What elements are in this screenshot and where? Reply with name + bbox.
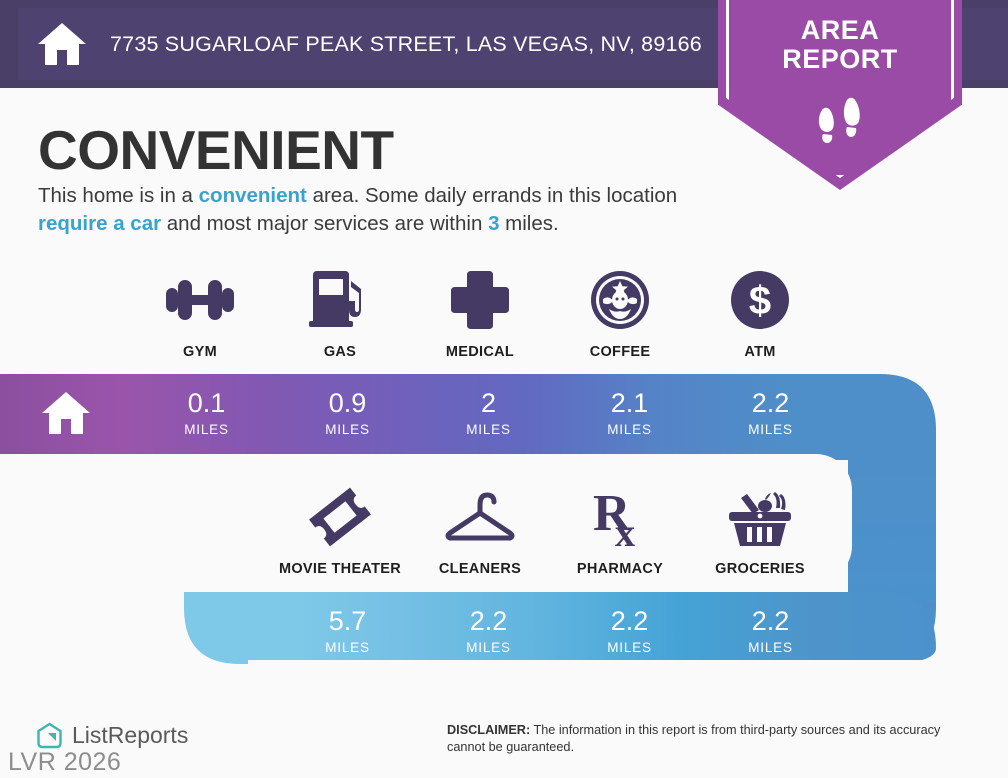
- distance-cell-pharmacy: 2.2 MILES: [559, 588, 700, 674]
- distance-cell-medical: 2 MILES: [418, 370, 559, 456]
- distance-unit: MILES: [184, 422, 229, 437]
- amenity-label: PHARMACY: [577, 561, 663, 577]
- distance-cell-atm: 2.2 MILES: [700, 370, 841, 456]
- distance-value: 2.2: [611, 608, 649, 635]
- distance-unit: MILES: [748, 640, 793, 655]
- disclaimer: DISCLAIMER: The information in this repo…: [447, 722, 977, 756]
- distance-value: 2.2: [752, 390, 790, 417]
- amenity-row-2: MOVIE THEATER CLEANERS R x PHARMACY: [270, 482, 850, 577]
- distance-cell-gym: 0.1 MILES: [136, 370, 277, 456]
- grocery-basket-icon: [725, 482, 795, 552]
- distance-cell-groceries: 2.2 MILES: [700, 588, 841, 674]
- watermark-label: LVR 2026: [8, 748, 121, 777]
- distance-value: 2.2: [470, 608, 508, 635]
- medical-cross-icon: [449, 265, 511, 335]
- page-description: This home is in a convenient area. Some …: [38, 182, 718, 238]
- footprints-icon: [814, 96, 868, 148]
- distance-value: 2.1: [611, 390, 649, 417]
- dollar-circle-icon: $: [729, 265, 791, 335]
- amenity-cleaners[interactable]: CLEANERS: [410, 482, 550, 577]
- svg-text:x: x: [615, 510, 635, 550]
- amenity-label: CLEANERS: [439, 561, 521, 577]
- home-icon: [36, 21, 88, 67]
- distance-value: 5.7: [329, 608, 367, 635]
- amenity-coffee[interactable]: COFFEE: [550, 265, 690, 360]
- amenity-pharmacy[interactable]: R x PHARMACY: [550, 482, 690, 577]
- amenity-label: COFFEE: [590, 344, 651, 360]
- amenity-groceries[interactable]: GROCERIES: [690, 482, 830, 577]
- distance-cell-gas: 0.9 MILES: [277, 370, 418, 456]
- distance-unit: MILES: [325, 640, 370, 655]
- distance-value: 0.9: [329, 390, 367, 417]
- area-report-page: 7735 SUGARLOAF PEAK STREET, LAS VEGAS, N…: [0, 0, 1008, 778]
- clothes-hanger-icon: [442, 482, 518, 552]
- desc-text-2: area. Some daily errands in this locatio…: [307, 184, 677, 207]
- amenity-row-1: GYM GAS MEDICAL: [130, 265, 850, 360]
- distance-cell-cleaners: 2.2 MILES: [418, 588, 559, 674]
- amenity-label: GYM: [183, 344, 217, 360]
- gas-pump-icon: [305, 265, 375, 335]
- brand-name: ListReports: [72, 722, 188, 749]
- listreports-logo: ListReports: [36, 722, 188, 749]
- amenity-label: ATM: [744, 344, 775, 360]
- rx-icon: R x: [589, 482, 651, 552]
- home-icon: [40, 390, 92, 436]
- amenity-label: MEDICAL: [446, 344, 514, 360]
- distance-cell-coffee: 2.1 MILES: [559, 370, 700, 456]
- distance-value: 2.2: [752, 608, 790, 635]
- amenity-atm[interactable]: $ ATM: [690, 265, 830, 360]
- dumbbell-icon: [158, 265, 242, 335]
- property-address: 7735 SUGARLOAF PEAK STREET, LAS VEGAS, N…: [110, 32, 702, 57]
- distance-value: 0.1: [188, 390, 226, 417]
- amenity-gas[interactable]: GAS: [270, 265, 410, 360]
- desc-highlight-convenient: convenient: [199, 184, 307, 207]
- badge-line-2: REPORT: [718, 45, 962, 74]
- distance-unit: MILES: [748, 422, 793, 437]
- disclaimer-label: DISCLAIMER:: [447, 723, 530, 737]
- listreports-house-icon: [36, 722, 63, 749]
- desc-text-3: and most major services are within: [161, 212, 488, 235]
- desc-text-4: miles.: [499, 212, 558, 235]
- distance-unit: MILES: [466, 422, 511, 437]
- amenity-label: MOVIE THEATER: [279, 561, 401, 577]
- distance-value: 2: [481, 390, 496, 417]
- distance-cell-movie-theater: 5.7 MILES: [277, 588, 418, 674]
- starbucks-siren-icon: [589, 265, 651, 335]
- movie-ticket-icon: [304, 482, 376, 552]
- distance-unit: MILES: [607, 422, 652, 437]
- badge-label: AREA REPORT: [718, 16, 962, 74]
- distance-unit: MILES: [325, 422, 370, 437]
- distance-unit: MILES: [466, 640, 511, 655]
- amenity-label: GROCERIES: [715, 561, 805, 577]
- desc-highlight-require-car: require a car: [38, 212, 161, 235]
- area-report-badge: AREA REPORT: [718, 0, 962, 190]
- page-title: CONVENIENT: [38, 118, 394, 182]
- amenity-label: GAS: [324, 344, 356, 360]
- badge-line-1: AREA: [718, 16, 962, 45]
- desc-highlight-miles: 3: [488, 212, 499, 235]
- amenity-medical[interactable]: MEDICAL: [410, 265, 550, 360]
- amenity-movie-theater[interactable]: MOVIE THEATER: [270, 482, 410, 577]
- ribbon-home-marker: [0, 374, 132, 452]
- svg-text:$: $: [749, 279, 771, 323]
- amenity-gym[interactable]: GYM: [130, 265, 270, 360]
- distance-unit: MILES: [607, 640, 652, 655]
- desc-text-1: This home is in a: [38, 184, 199, 207]
